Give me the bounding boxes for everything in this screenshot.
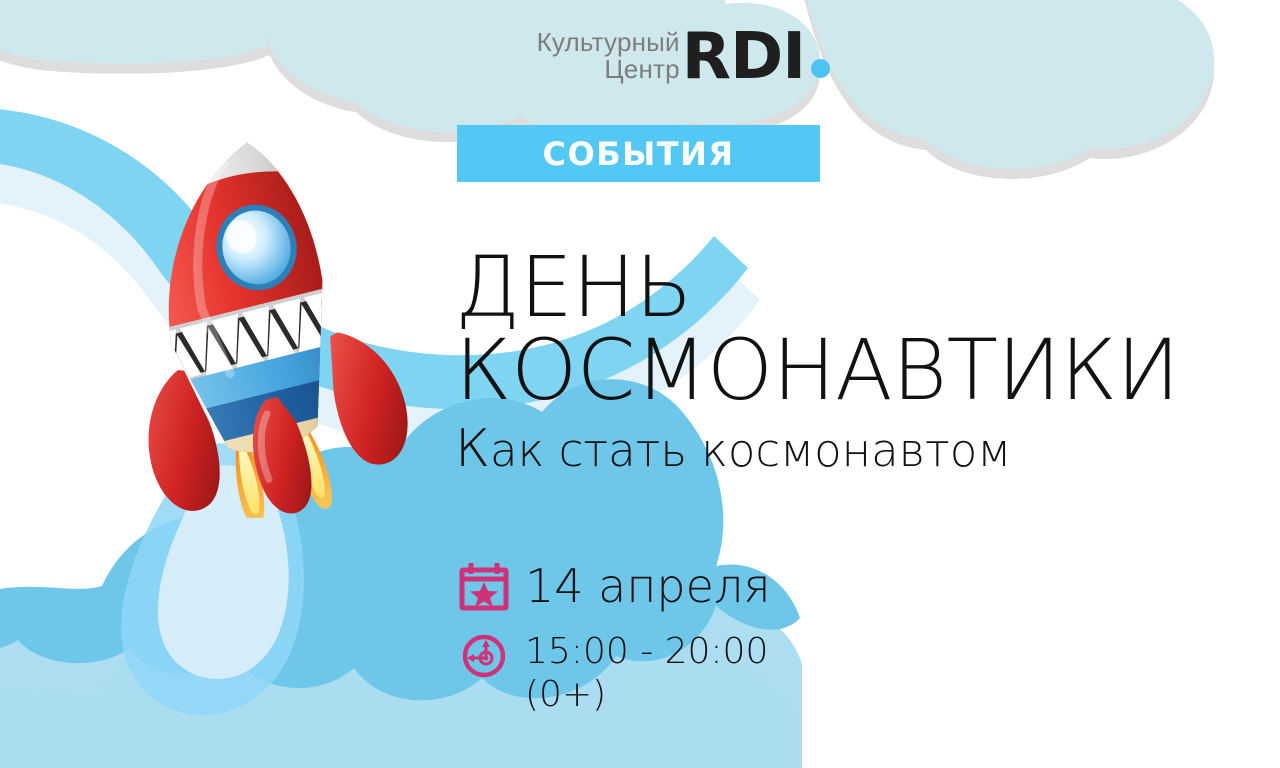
cloud-top-right xyxy=(800,0,1214,179)
logo-line-1: Культурный xyxy=(537,27,680,57)
event-age-rating: (0+) xyxy=(525,673,768,716)
calendar-star-icon xyxy=(457,560,511,614)
subtitle-initial-cap: К xyxy=(455,419,490,479)
rocket-fin-right xyxy=(319,321,416,472)
cloud-top-left xyxy=(0,0,284,74)
cartoon-rocket-illustration xyxy=(96,138,416,518)
event-date-row: 14 апреля xyxy=(457,560,977,614)
logo-mark: RDI xyxy=(682,26,830,89)
events-banner-label: СОБЫТИЯ xyxy=(543,135,735,173)
title-line-1: ДЕНЬ xyxy=(455,246,1245,329)
event-time-range: 15:00 - 20:00 xyxy=(525,631,768,672)
logo-line-2: Центр xyxy=(537,56,680,83)
headline-block: ДЕНЬ КОСМОНАВТИКИ Как стать космонавтом xyxy=(455,246,1245,477)
event-subtitle: Как стать космонавтом xyxy=(455,422,1245,477)
subtitle-rest: ак стать космонавтом xyxy=(490,424,1011,477)
title-line-2: КОСМОНАВТИКИ xyxy=(455,329,1245,412)
logo-dot-icon xyxy=(811,59,830,78)
event-time-row: 15:00 - 20:00 (0+) xyxy=(457,630,977,716)
events-banner[interactable]: СОБЫТИЯ xyxy=(457,125,820,182)
event-time-text: 15:00 - 20:00 (0+) xyxy=(525,630,768,716)
clock-icon xyxy=(461,633,507,679)
event-details: 14 апреля 15:00 - 20:00 (0+) xyxy=(457,560,977,716)
logo-wordmark: RDI xyxy=(682,26,805,89)
event-poster: Культурный Центр RDI СОБЫТИЯ ДЕНЬ КОСМОН… xyxy=(0,0,1280,768)
logo-words: Культурный Центр xyxy=(537,26,680,82)
event-date-text: 14 апреля xyxy=(525,560,771,612)
brand-logo[interactable]: Культурный Центр RDI xyxy=(470,26,830,106)
